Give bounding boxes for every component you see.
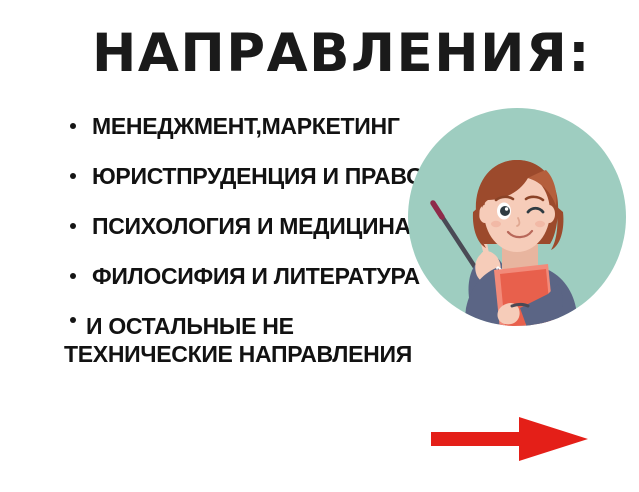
list-item: ФИЛОСИФИЯ И ЛИТЕРАТУРА — [64, 262, 430, 290]
bullet-dot-icon — [70, 173, 76, 179]
list-item-label: И ОСТАЛЬНЫЕ НЕ ТЕХНИЧЕСКИЕ НАПРАВЛЕНИЯ — [64, 313, 412, 367]
list-item: ЮРИСТПРУДЕНЦИЯ И ПРАВО — [64, 162, 430, 190]
slide-canvas: НАПРАВЛЕНИЯ: МЕНЕДЖМЕНТ,МАРКЕТИНГ ЮРИСТП… — [0, 0, 639, 492]
list-item-label: ФИЛОСИФИЯ И ЛИТЕРАТУРА — [92, 263, 420, 289]
teacher-woman-illustration — [408, 108, 626, 326]
list-item-label: ПСИХОЛОГИЯ И МЕДИЦИНА — [92, 213, 411, 239]
avito-watermark: Avito — [523, 458, 635, 488]
list-item: И ОСТАЛЬНЫЕ НЕ ТЕХНИЧЕСКИЕ НАПРАВЛЕНИЯ — [64, 312, 430, 368]
avito-logo-icon — [527, 462, 557, 486]
list-item-label: МЕНЕДЖМЕНТ,МАРКЕТИНГ — [92, 113, 400, 139]
directions-list: МЕНЕДЖМЕНТ,МАРКЕТИНГ ЮРИСТПРУДЕНЦИЯ И ПР… — [64, 112, 430, 368]
list-item-label: ЮРИСТПРУДЕНЦИЯ И ПРАВО — [92, 163, 424, 189]
bullet-dot-icon — [70, 317, 76, 323]
list-item: ПСИХОЛОГИЯ И МЕДИЦИНА — [64, 212, 430, 240]
bullet-dot-icon — [70, 123, 76, 129]
list-item: МЕНЕДЖМЕНТ,МАРКЕТИНГ — [64, 112, 430, 140]
eye-open — [497, 203, 511, 220]
avito-wordmark: Avito — [559, 461, 616, 487]
bullet-dot-icon — [70, 273, 76, 279]
bullet-dot-icon — [70, 223, 76, 229]
page-title: НАПРАВЛЕНИЯ: — [0, 26, 639, 82]
